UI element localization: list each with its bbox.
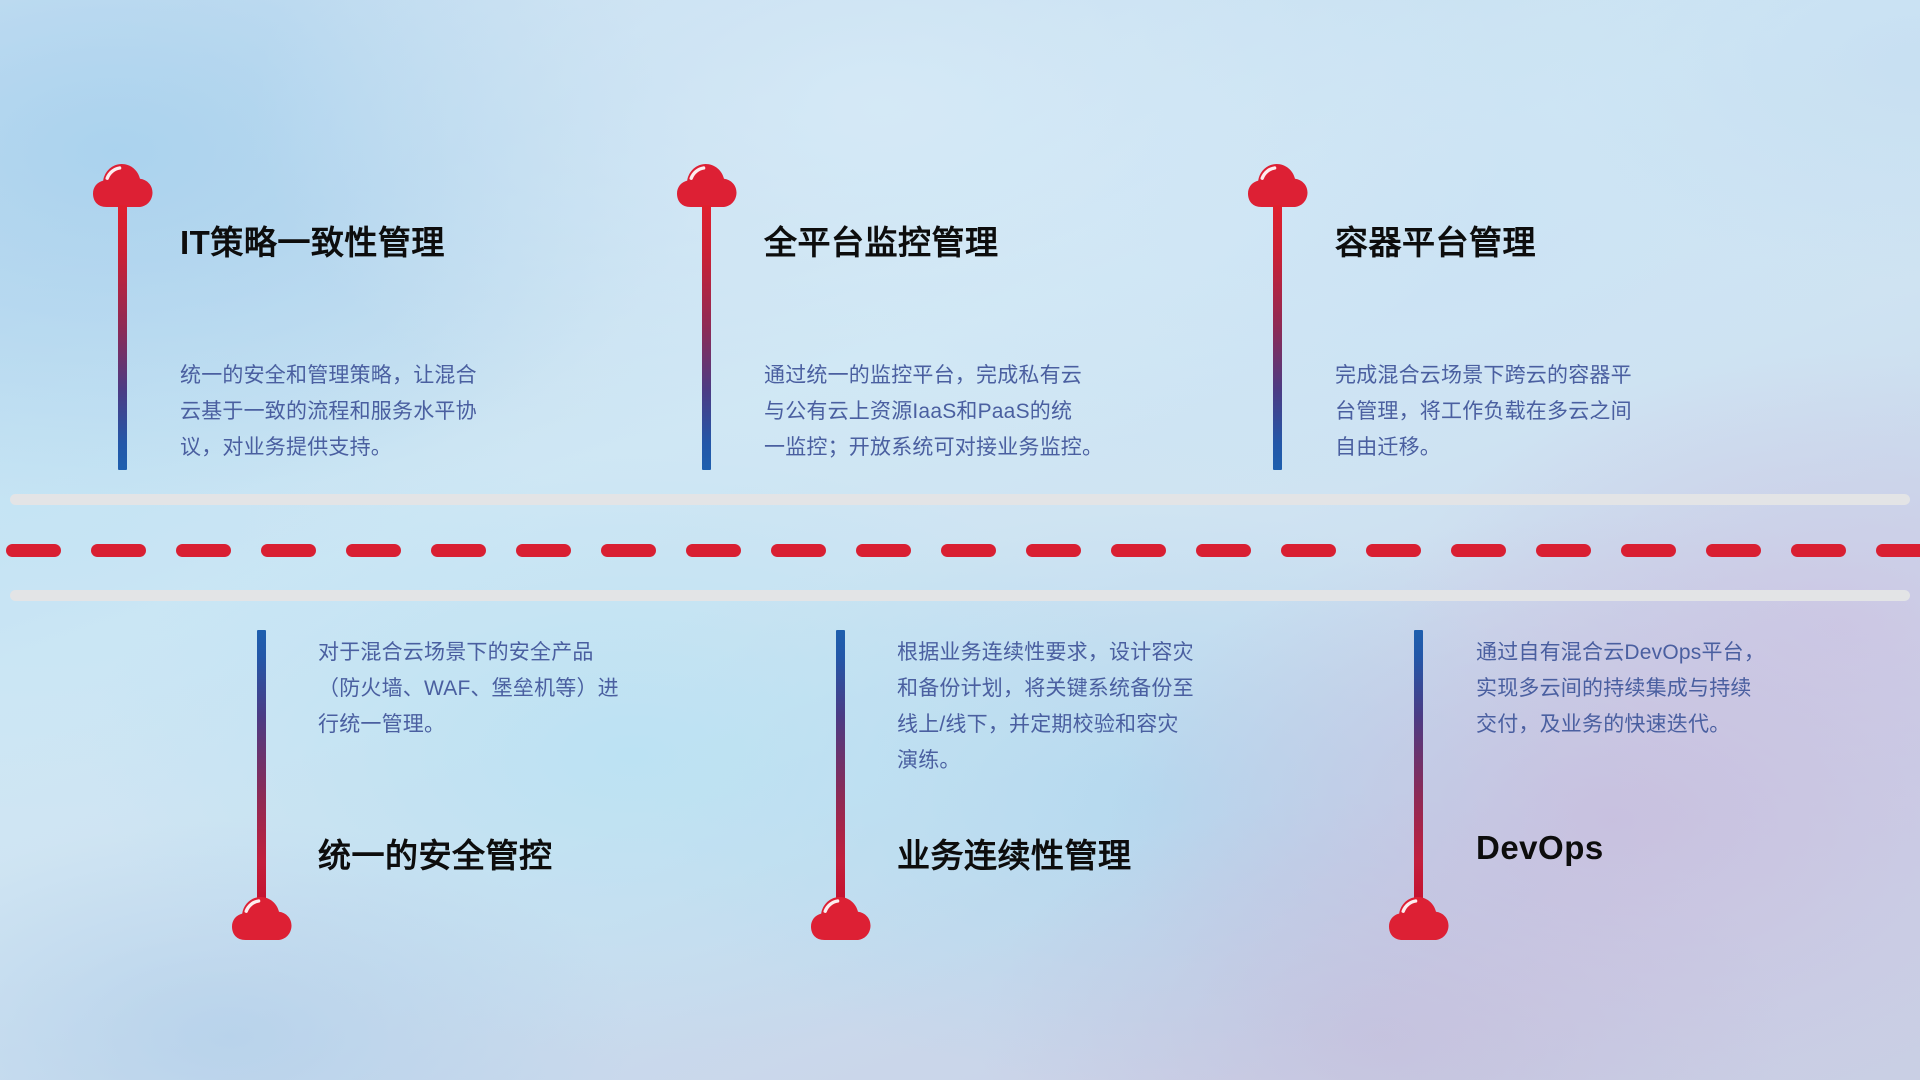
infographic-canvas: IT策略一致性管理 统一的安全和管理策略，让混合 云基于一致的流程和服务水平协 … <box>0 0 1920 1080</box>
column-title: DevOps <box>1476 829 1604 867</box>
column-stem <box>257 630 266 900</box>
column-title: 统一的安全管控 <box>318 829 553 877</box>
cloud-icon <box>1247 160 1309 210</box>
cloud-icon <box>1388 893 1450 943</box>
column-title: 业务连续性管理 <box>897 829 1132 877</box>
divider-dash <box>176 544 231 557</box>
divider-dash <box>1621 544 1676 557</box>
column-body-text: 通过自有混合云DevOps平台， 实现多云间的持续集成与持续 交付，及业务的快速… <box>1476 635 1906 743</box>
column-stem <box>118 205 127 470</box>
cloud-icon <box>231 893 293 943</box>
divider-dash <box>6 544 61 557</box>
cloud-icon <box>92 160 154 210</box>
divider-dash <box>771 544 826 557</box>
column-stem <box>702 205 711 470</box>
divider-dash <box>1876 544 1920 557</box>
cloud-icon <box>676 160 738 210</box>
column-stem <box>836 630 845 900</box>
divider-dashed-line <box>0 544 1920 557</box>
column-title: 容器平台管理 <box>1335 216 1536 264</box>
column-stem <box>1273 205 1282 470</box>
divider-dash <box>91 544 146 557</box>
column-body-text: 完成混合云场景下跨云的容器平 台管理，将工作负载在多云之间 自由迁移。 <box>1335 358 1775 466</box>
divider-dash <box>1111 544 1166 557</box>
divider-rail-lower <box>10 590 1910 601</box>
divider-rail-upper <box>10 494 1910 505</box>
divider-dash <box>1536 544 1591 557</box>
divider-dash <box>1196 544 1251 557</box>
divider-dash <box>686 544 741 557</box>
divider-dash <box>1366 544 1421 557</box>
divider-dash <box>1281 544 1336 557</box>
divider-dash <box>261 544 316 557</box>
column-body-text: 通过统一的监控平台，完成私有云 与公有云上资源IaaS和PaaS的统 一监控；开… <box>764 358 1209 466</box>
column-body-text: 根据业务连续性要求，设计容灾 和备份计划，将关键系统备份至 线上/线下，并定期校… <box>897 635 1327 779</box>
divider-dash <box>1451 544 1506 557</box>
column-title: 全平台监控管理 <box>764 216 999 264</box>
divider-dash <box>1026 544 1081 557</box>
divider-dash <box>1706 544 1761 557</box>
divider-dash <box>431 544 486 557</box>
divider-dash <box>1791 544 1846 557</box>
column-title: IT策略一致性管理 <box>180 216 445 264</box>
cloud-icon <box>810 893 872 943</box>
column-body-text: 对于混合云场景下的安全产品 （防火墙、WAF、堡垒机等）进 行统一管理。 <box>318 635 748 743</box>
divider-dash <box>601 544 656 557</box>
column-stem <box>1414 630 1423 900</box>
divider-dash <box>856 544 911 557</box>
column-body-text: 统一的安全和管理策略，让混合 云基于一致的流程和服务水平协 议，对业务提供支持。 <box>180 358 610 466</box>
divider-dash <box>346 544 401 557</box>
divider-dash <box>516 544 571 557</box>
divider-dash <box>941 544 996 557</box>
